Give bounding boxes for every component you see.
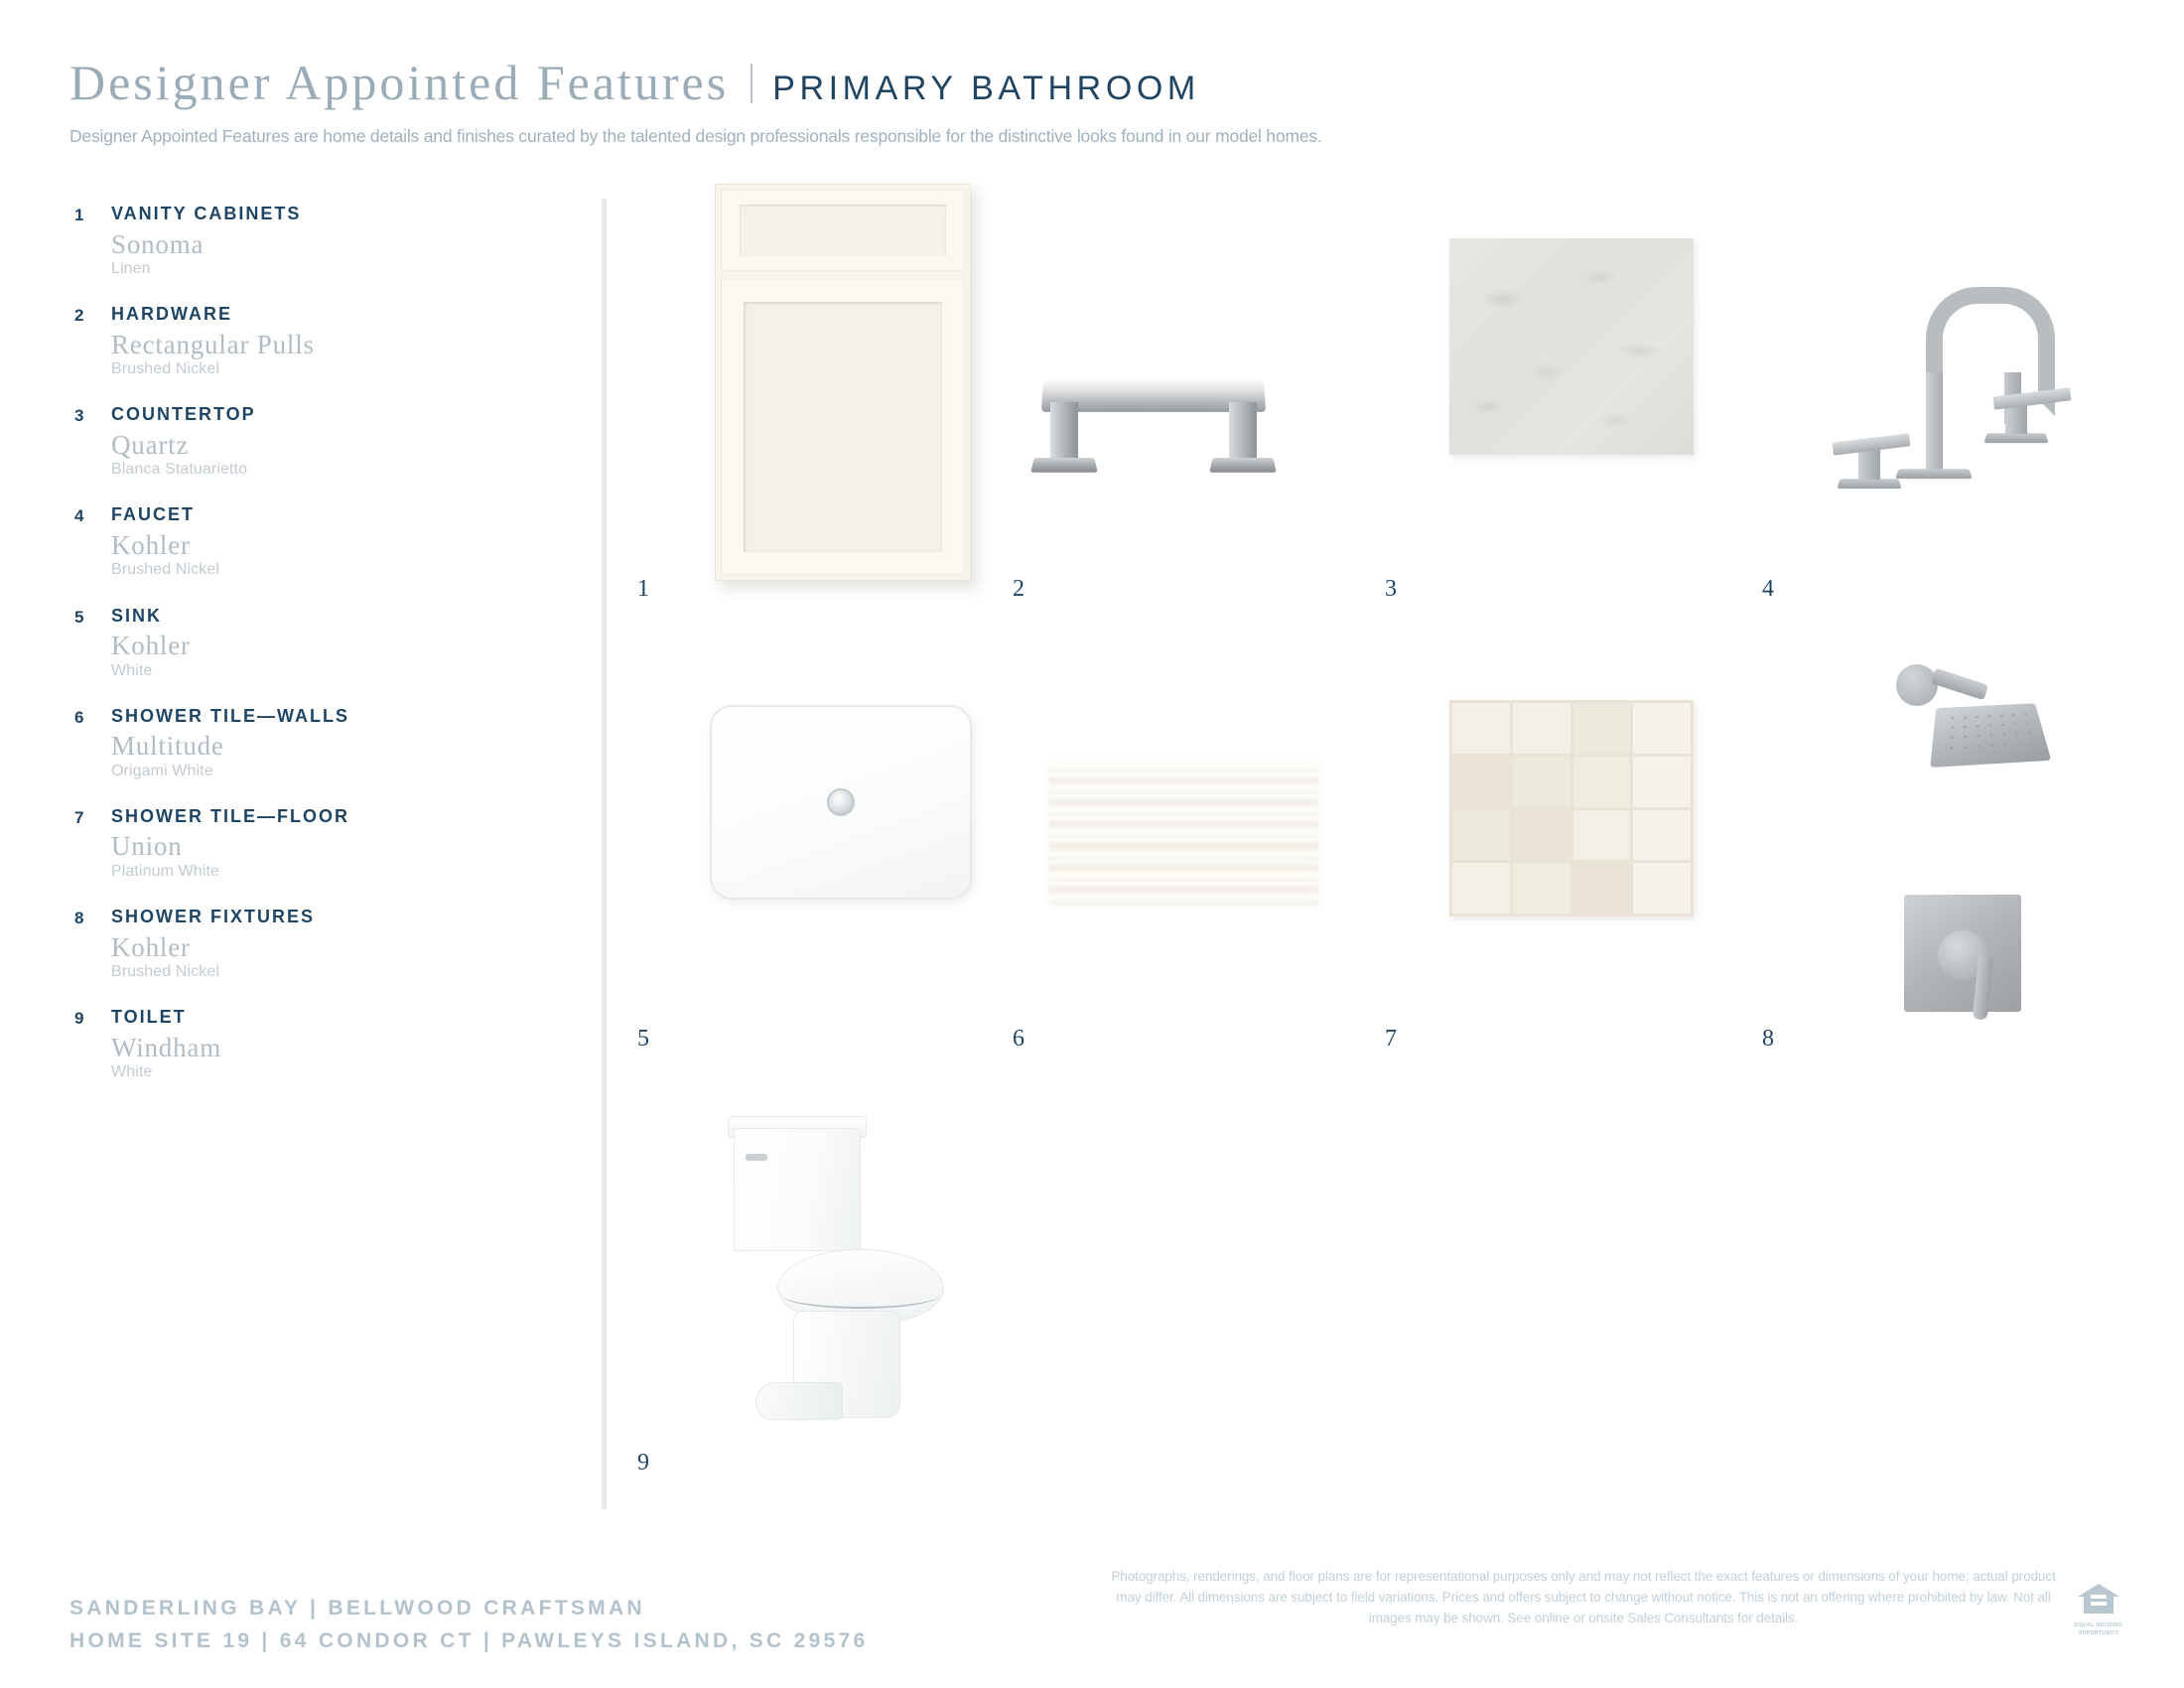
footer-community-name: SANDERLING BAY | BELLWOOD CRAFTSMAN [69,1593,869,1625]
legend-product-finish: Brushed Nickel [111,360,566,378]
list-item: 9 TOILET Windham White [69,1007,566,1081]
faucet-base-left [1837,479,1901,489]
tile-piece [1452,757,1510,807]
legend-number: 6 [74,708,84,728]
legend-category: COUNTERTOP [111,404,566,425]
vertical-divider [602,199,607,1509]
legend-category: HARDWARE [111,304,566,325]
tile-piece [1633,863,1691,914]
equal-housing-label-line1: EQUAL HOUSING [2073,1622,2124,1629]
legend-number: 9 [74,1009,84,1029]
legend-product-name: Rectangular Pulls [111,331,566,358]
pull-foot-left [1030,458,1097,473]
pull-leg-right [1229,402,1257,460]
shower-arm [1931,668,1988,701]
tile-piece [1633,757,1691,807]
legend-product-finish: White [111,1063,566,1081]
pull-foot-right [1209,458,1276,473]
pull-leg-left [1050,402,1078,460]
legend-number: 3 [74,406,84,426]
faucet-image [1839,281,2107,529]
tile-piece [1573,703,1631,754]
cabinet-drawer-front [721,190,965,271]
product-number-2: 2 [1013,576,1024,603]
legend-number: 7 [74,808,84,828]
legend-product-finish: Origami White [111,763,566,780]
product-number-1: 1 [637,576,649,603]
list-item: 1 VANITY CABINETS Sonoma Linen [69,204,566,278]
tile-piece [1573,757,1631,807]
tile-piece [1452,703,1510,754]
title-divider-icon [751,64,752,103]
faucet-base-right [1983,433,2048,443]
equal-housing-logo: EQUAL HOUSING OPPORTUNITY [2073,1581,2124,1637]
sink-image [710,705,972,900]
product-number-9: 9 [637,1450,649,1477]
title-row: Designer Appointed Features PRIMARY BATH… [69,58,2115,108]
legend-product-finish: Platinum White [111,863,566,881]
legend-product-name: Quartz [111,431,566,459]
footer-disclaimer: Photographs, renderings, and floor plans… [1102,1567,2065,1629]
faucet-spout-column [1926,372,1943,472]
legend-product-name: Union [111,832,566,860]
cabinet-door-panel [721,279,965,575]
list-item: 6 SHOWER TILE—WALLS Multitude Origami Wh… [69,706,566,780]
list-item: 3 COUNTERTOP Quartz Blanca Statuarietto [69,404,566,479]
brochure-page: Designer Appointed Features PRIMARY BATH… [0,0,2184,1688]
legend-product-finish: Brushed Nickel [111,561,566,579]
product-image-grid: 1 2 3 [615,184,2124,1514]
rectangular-pull-graphic [1024,351,1283,509]
equal-housing-label-line2: OPPORTUNITY [2073,1630,2124,1637]
list-item: 8 SHOWER FIXTURES Kohler Brushed Nickel [69,907,566,981]
product-number-7: 7 [1385,1026,1397,1053]
legend-category: VANITY CABINETS [111,204,566,224]
quartz-texture [1449,238,1694,455]
toilet-tank [734,1128,861,1251]
shower-fixture-graphic [1876,660,2124,1077]
product-number-4: 4 [1762,576,1774,603]
tile-piece [1573,810,1631,861]
product-number-3: 3 [1385,576,1397,603]
legend-category: SHOWER FIXTURES [111,907,566,927]
shower-arm-flange [1896,664,1938,706]
legend-number: 8 [74,909,84,928]
tile-piece [1513,703,1570,754]
quartz-countertop-swatch [1449,238,1694,455]
floor-tile-mosaic [1449,700,1694,916]
tile-piece [1573,863,1631,914]
list-item: 7 SHOWER TILE—FLOOR Union Platinum White [69,806,566,881]
sink-drain [827,788,855,816]
equal-housing-house-icon [2076,1581,2121,1617]
tile-piece [1633,703,1691,754]
legend-product-finish: White [111,662,566,680]
legend-category: SHOWER TILE—WALLS [111,706,566,727]
feature-legend-list: 1 VANITY CABINETS Sonoma Linen 2 HARDWAR… [69,204,566,1107]
toilet-image [720,1112,968,1430]
footer-address: HOME SITE 19 | 64 CONDOR CT | PAWLEYS IS… [69,1625,869,1658]
footer-community-block: SANDERLING BAY | BELLWOOD CRAFTSMAN HOME… [69,1593,869,1657]
shower-wall-tile-swatch [1049,765,1317,904]
legend-category: TOILET [111,1007,566,1028]
undermount-sink-graphic [710,705,972,900]
product-number-8: 8 [1762,1026,1774,1053]
shower-fixtures-image [1876,660,2124,1077]
legend-category: FAUCET [111,504,566,525]
legend-product-name: Kohler [111,933,566,961]
toilet-flush-lever [746,1154,767,1161]
page-title-script: Designer Appointed Features [69,58,729,107]
vanity-cabinet-image [715,184,971,581]
legend-product-finish: Brushed Nickel [111,963,566,981]
page-subtitle: Designer Appointed Features are home det… [69,126,2115,147]
list-item: 2 HARDWARE Rectangular Pulls Brushed Nic… [69,304,566,378]
tile-piece [1513,863,1570,914]
tile-piece [1633,810,1691,861]
page-header: Designer Appointed Features PRIMARY BATH… [69,58,2115,147]
page-title-room: PRIMARY BATHROOM [772,70,1200,108]
legend-number: 5 [74,608,84,628]
shower-floor-tile-swatch [1449,700,1694,916]
toilet-foot [755,1382,843,1420]
legend-number: 4 [74,506,84,526]
legend-product-finish: Blanca Statuarietto [111,461,566,479]
tile-piece [1452,810,1510,861]
legend-product-finish: Linen [111,260,566,278]
legend-product-name: Sonoma [111,230,566,258]
legend-product-name: Kohler [111,531,566,559]
shower-head [1930,703,2051,768]
legend-product-name: Multitude [111,732,566,760]
legend-category: SINK [111,606,566,627]
list-item: 4 FAUCET Kohler Brushed Nickel [69,504,566,579]
product-number-6: 6 [1013,1026,1024,1053]
legend-number: 2 [74,306,84,326]
cabinet-door-graphic [715,184,971,581]
toilet-graphic [720,1112,968,1430]
list-item: 5 SINK Kohler White [69,606,566,680]
faucet-base-center [1895,469,1973,479]
legend-product-name: Windham [111,1034,566,1061]
legend-category: SHOWER TILE—FLOOR [111,806,566,827]
tile-piece [1513,810,1570,861]
tile-piece [1452,863,1510,914]
widespread-faucet-graphic [1839,281,2107,529]
legend-number: 1 [74,206,84,225]
tile-piece [1513,757,1570,807]
cabinet-pull-image [1024,351,1283,509]
product-number-5: 5 [637,1026,649,1053]
wall-tile-texture [1049,765,1317,904]
legend-product-name: Kohler [111,632,566,659]
toilet-seat-line [781,1281,940,1309]
